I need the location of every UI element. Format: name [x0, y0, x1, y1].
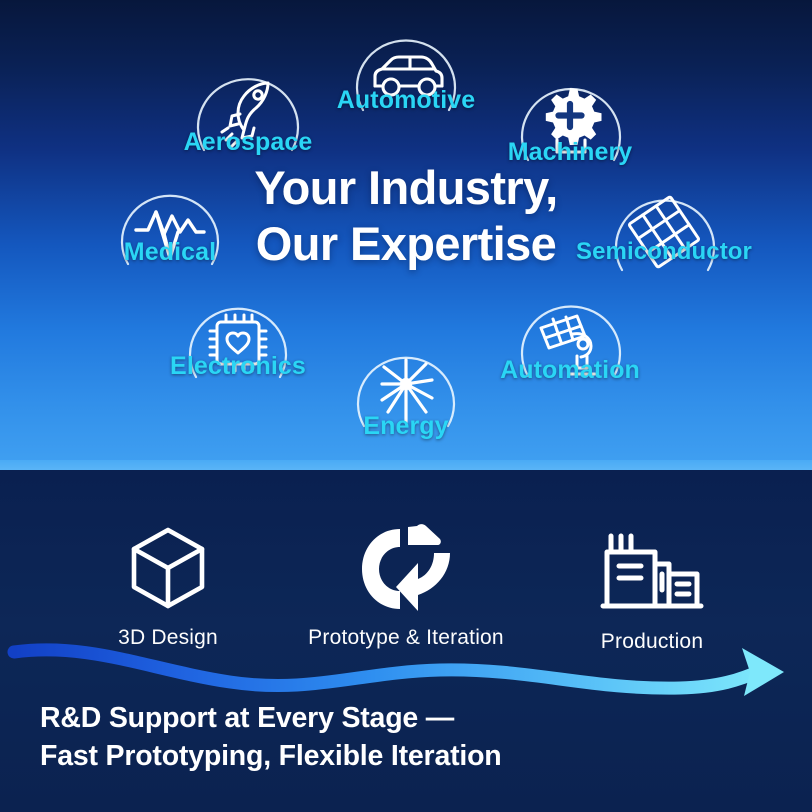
cycle-icon: [276, 520, 536, 616]
industry-label: Automotive: [337, 86, 476, 115]
wafer-icon: [605, 182, 723, 288]
industry-label: Automation: [500, 356, 640, 385]
bottom-headline-line-2: Fast Prototyping, Flexible Iteration: [40, 738, 780, 776]
industry-label: Aerospace: [184, 128, 313, 157]
bottom-headline: R&D Support at Every Stage — Fast Protot…: [40, 700, 780, 776]
infographic-poster: Aerospace Automotive: [0, 0, 812, 812]
industry-label: Semiconductor: [576, 238, 752, 266]
industry-label: Medical: [124, 238, 216, 267]
factory-icon: [522, 524, 782, 620]
industry-label: Electronics: [170, 352, 306, 381]
cube-icon: [38, 520, 298, 616]
industry-label: Energy: [363, 412, 448, 441]
bottom-headline-line-1: R&D Support at Every Stage —: [40, 700, 780, 738]
industry-label: Machinery: [508, 138, 633, 167]
